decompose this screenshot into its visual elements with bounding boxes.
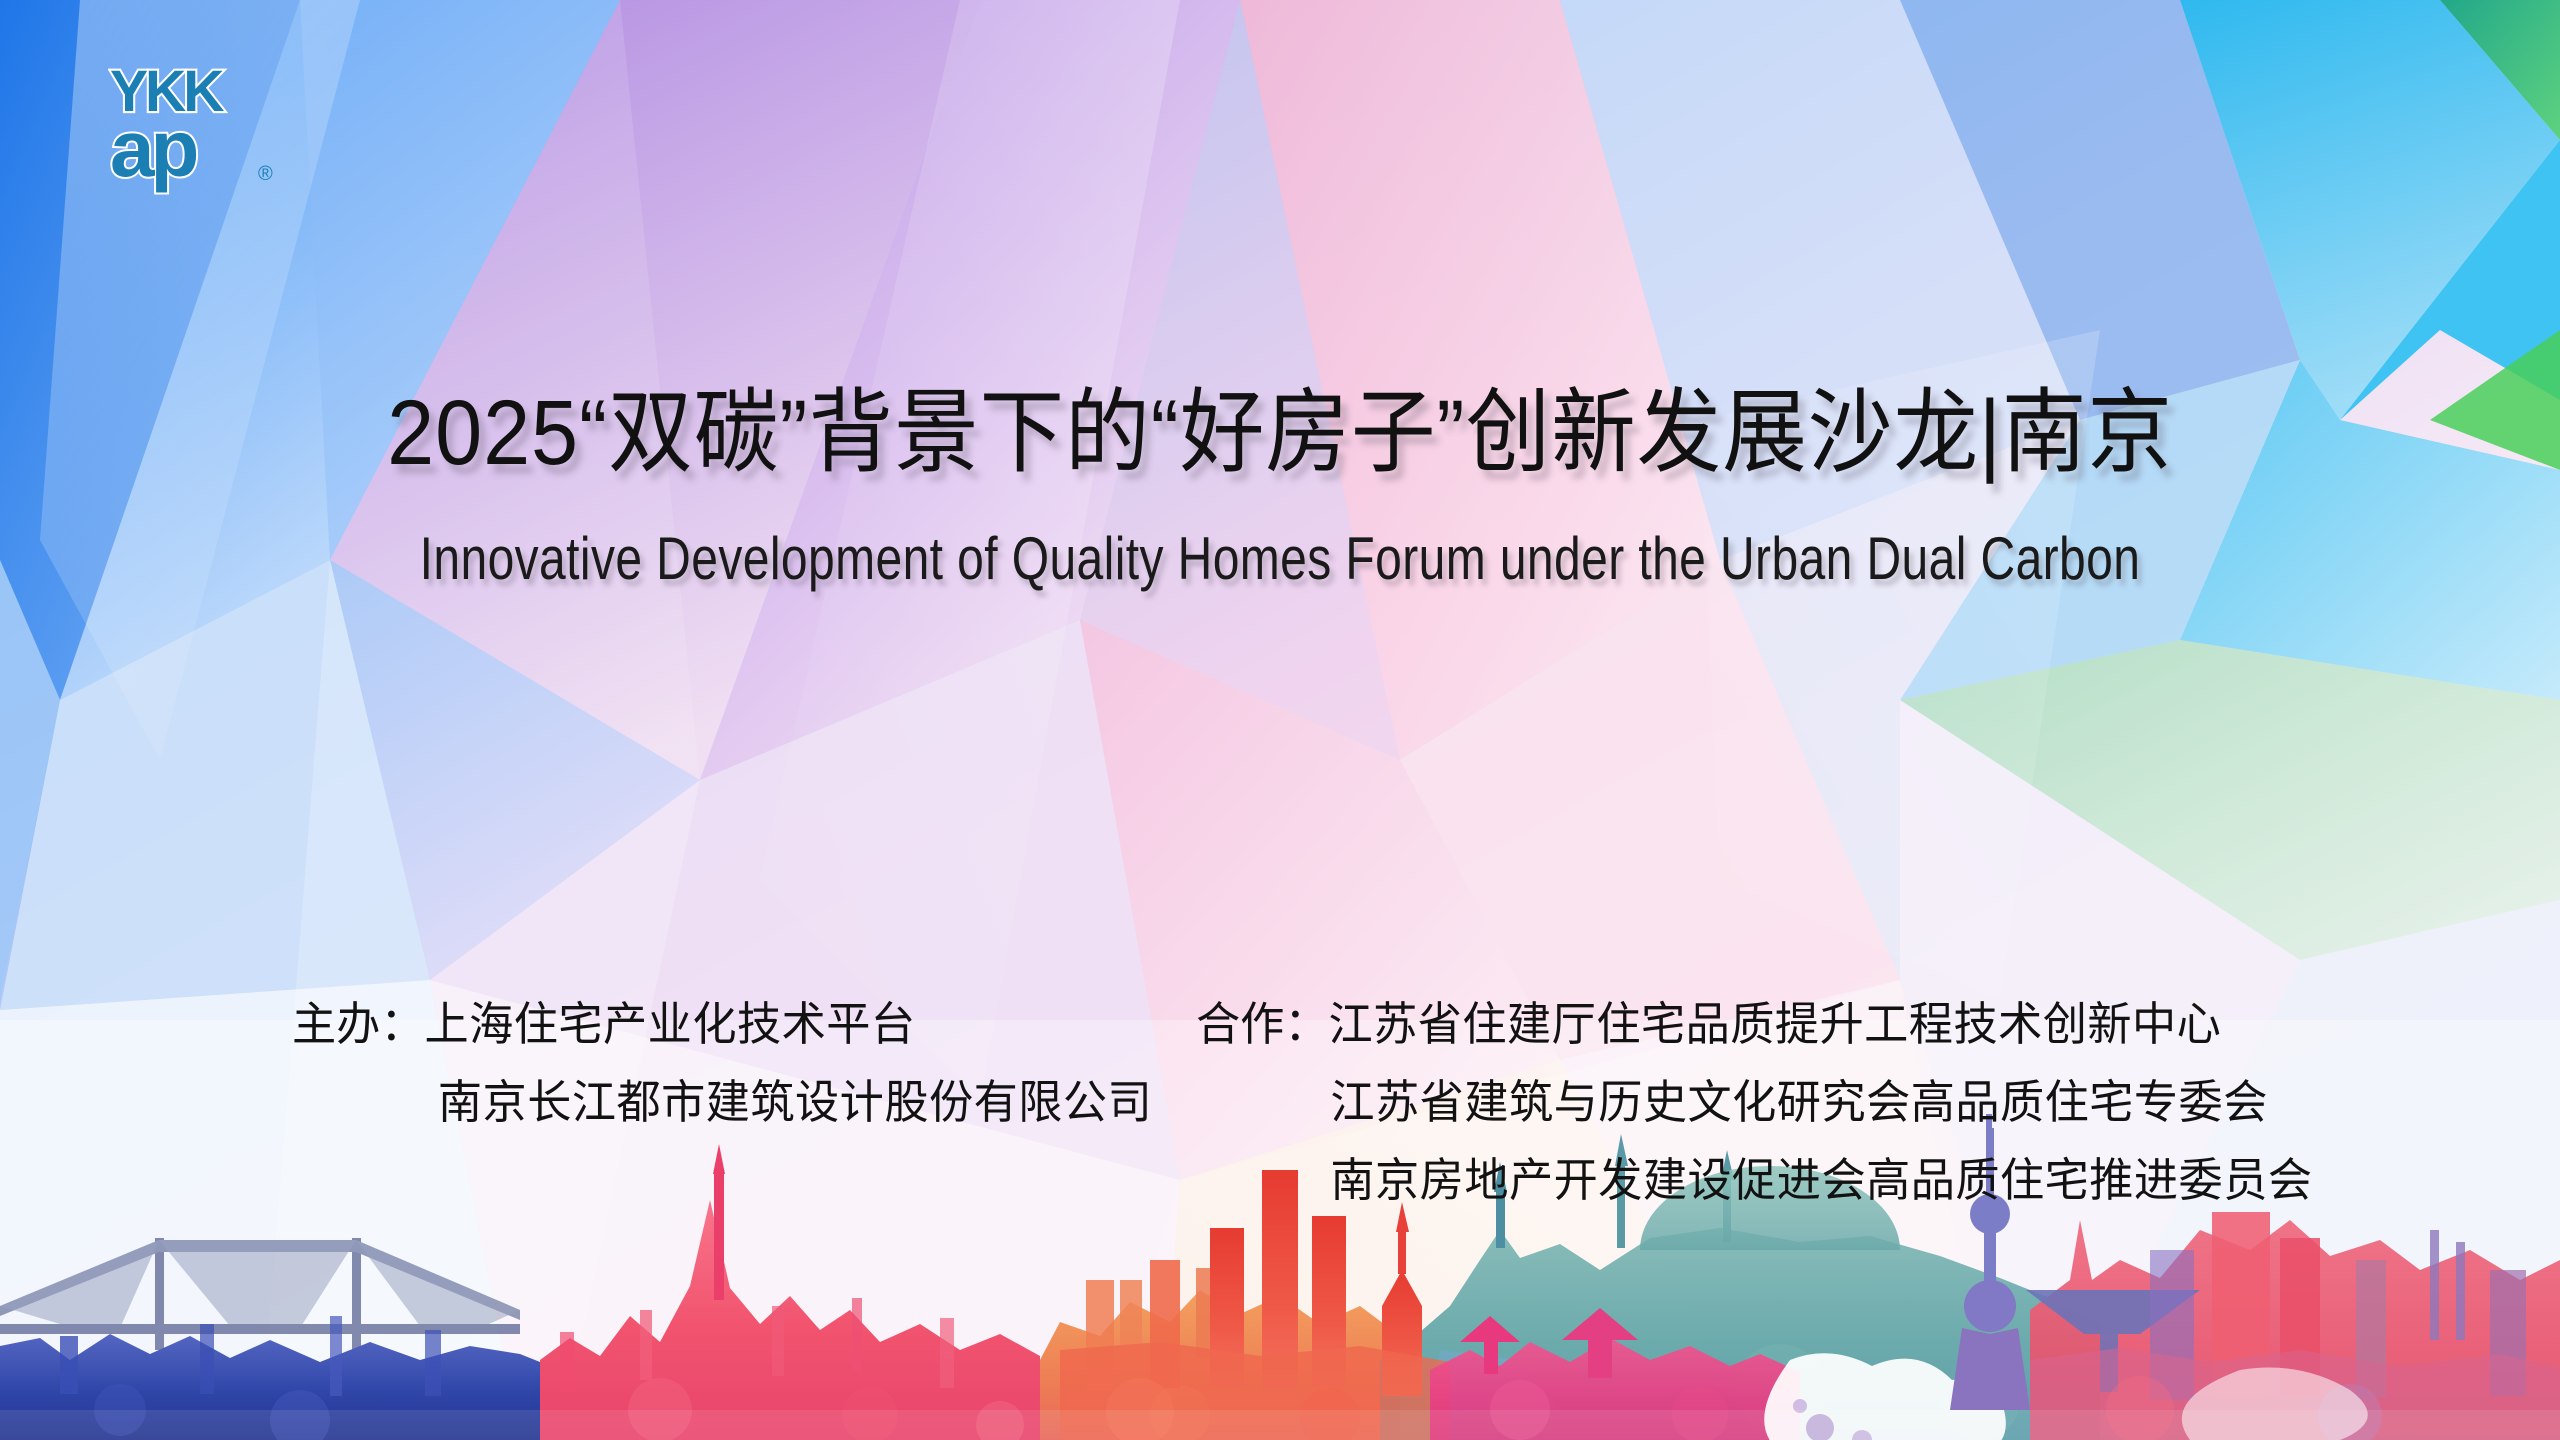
logo-text-ap: ap — [110, 104, 196, 193]
logo-registered-mark-icon: ® — [258, 163, 273, 185]
credits-block: 主办：上海住宅产业化技术平台 南京长江都市建筑设计股份有限公司 合作：江苏省住建… — [0, 985, 2560, 1255]
cooperation-column: 合作：江苏省住建厅住宅品质提升工程技术创新中心 江苏省建筑与历史文化研究会高品质… — [1196, 985, 2359, 1219]
host-line-1: 主办：上海住宅产业化技术平台 — [292, 985, 1152, 1063]
cooperation-line-3: 南京房地产开发建设促进会高品质住宅推进委员会 — [1196, 1141, 2312, 1219]
cooperation-line-1: 合作：江苏省住建厅住宅品质提升工程技术创新中心 — [1196, 985, 2312, 1063]
host-org-1: 上海住宅产业化技术平台 — [424, 998, 915, 1050]
page-subtitle: Innovative Development of Quality Homes … — [256, 524, 2304, 593]
page-title: 2025“双碳”背景下的“好房子”创新发展沙龙|南京 — [102, 385, 2457, 482]
cooperation-org-1: 江苏省住建厅住宅品质提升工程技术创新中心 — [1328, 998, 2221, 1050]
ykk-ap-logo: YKK ap ® — [108, 48, 298, 198]
cooperation-label: 合作： — [1196, 998, 1328, 1050]
event-poster: YKK ap ® 2025“双碳”背景下的“好房子”创新发展沙龙|南京 Inno… — [0, 0, 2560, 1440]
title-block: 2025“双碳”背景下的“好房子”创新发展沙龙|南京 Innovative De… — [0, 385, 2560, 593]
host-label: 主办： — [292, 998, 424, 1050]
host-line-2: 南京长江都市建筑设计股份有限公司 — [292, 1063, 1152, 1141]
host-column: 主办：上海住宅产业化技术平台 南京长江都市建筑设计股份有限公司 — [292, 985, 1188, 1141]
cooperation-line-2: 江苏省建筑与历史文化研究会高品质住宅专委会 — [1196, 1063, 2312, 1141]
